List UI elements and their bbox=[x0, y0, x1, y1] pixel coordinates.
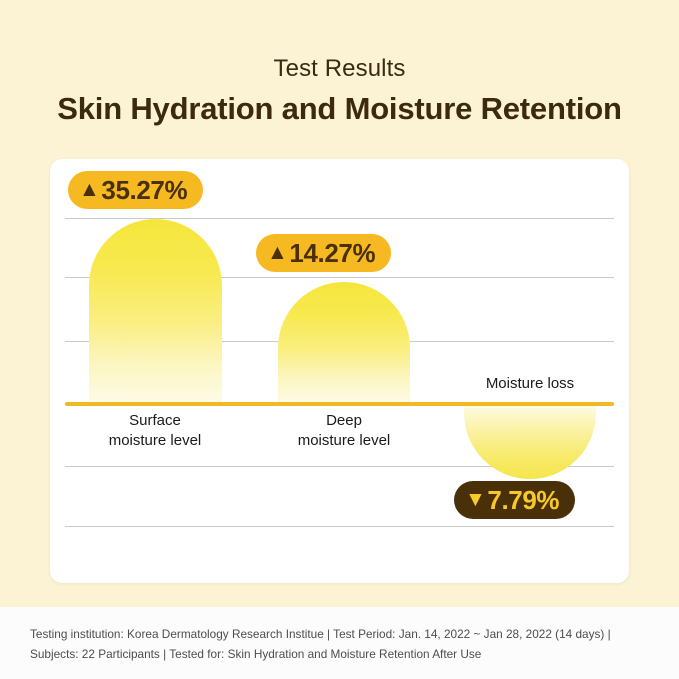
bar-label-moisture-loss: Moisture loss bbox=[450, 374, 610, 394]
eyebrow-label: Test Results bbox=[0, 55, 679, 83]
badge-value-moisture-loss: 7.79% bbox=[487, 485, 559, 516]
bar-moisture-loss bbox=[464, 404, 596, 479]
footer-bar: Testing institution: Korea Dermatology R… bbox=[0, 607, 679, 679]
badge-moisture-loss: ▼ 7.79% bbox=[454, 481, 575, 519]
bar-label-line-1: Surface bbox=[75, 411, 235, 431]
badge-value-deep: 14.27% bbox=[289, 238, 375, 269]
badge-deep-moisture-level: ▲ 14.27% bbox=[256, 234, 391, 272]
result-infographic-page: Test Results Skin Hydration and Moisture… bbox=[0, 0, 679, 679]
chart-baseline bbox=[65, 402, 614, 406]
bar-surface-moisture-level bbox=[89, 219, 222, 404]
page-header: Test Results Skin Hydration and Moisture… bbox=[0, 0, 679, 127]
footnote-line-1: Testing institution: Korea Dermatology R… bbox=[30, 624, 655, 644]
footnote: Testing institution: Korea Dermatology R… bbox=[30, 624, 655, 665]
bar-label-line-2: moisture level bbox=[75, 431, 235, 451]
chart-card: ▲ 35.27% ▲ 14.27% ▼ 7.79% Surface moistu… bbox=[50, 159, 629, 583]
page-title: Skin Hydration and Moisture Retention bbox=[0, 91, 679, 127]
bar-label-line-1: Deep bbox=[264, 411, 424, 431]
bar-label-surface-moisture-level: Surface moisture level bbox=[75, 411, 235, 451]
triangle-up-icon: ▲ bbox=[267, 242, 287, 263]
gridline-5 bbox=[65, 526, 614, 527]
footnote-line-2: Subjects: 22 Participants | Tested for: … bbox=[30, 644, 655, 664]
bar-deep-moisture-level bbox=[278, 282, 410, 404]
bar-label-line-2: moisture level bbox=[264, 431, 424, 451]
bar-label-deep-moisture-level: Deep moisture level bbox=[264, 411, 424, 451]
triangle-down-icon: ▼ bbox=[465, 489, 485, 510]
triangle-up-icon: ▲ bbox=[79, 179, 99, 200]
bar-label-line-1: Moisture loss bbox=[450, 374, 610, 394]
badge-value-surface: 35.27% bbox=[101, 175, 187, 206]
badge-surface-moisture-level: ▲ 35.27% bbox=[68, 171, 203, 209]
